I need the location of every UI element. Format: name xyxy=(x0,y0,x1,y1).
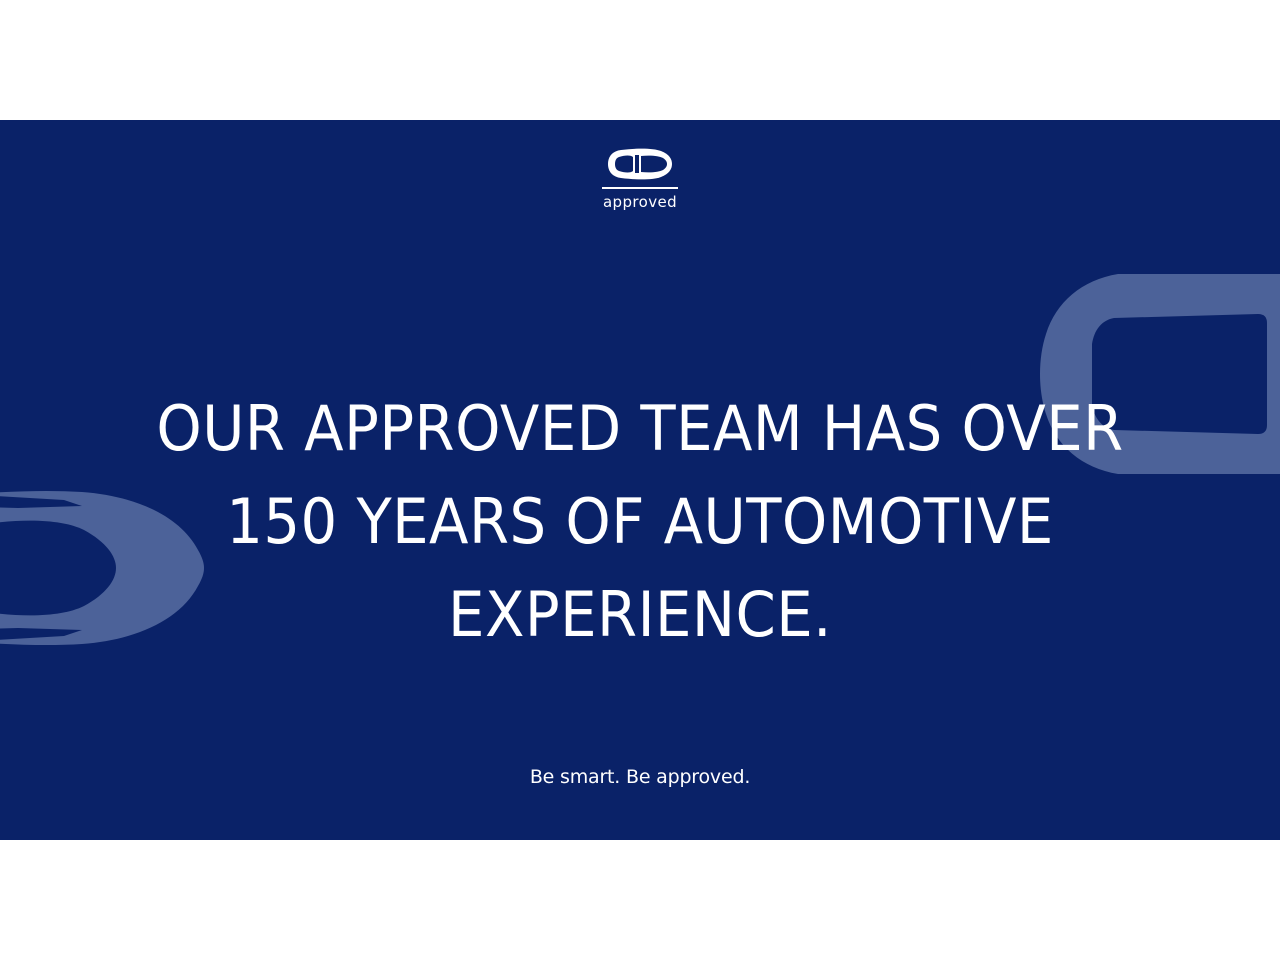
tagline: Be smart. Be approved. xyxy=(0,768,1280,787)
approved-car-icon xyxy=(607,148,673,180)
headline-line-3: EXPERIENCE. xyxy=(129,568,1152,661)
logo-wordmark: approved xyxy=(603,195,677,210)
brand-logo: approved xyxy=(0,148,1280,210)
hero-banner: approved OUR APPROVED TEAM HAS OVER 150 … xyxy=(0,120,1280,840)
headline: OUR APPROVED TEAM HAS OVER 150 YEARS OF … xyxy=(90,382,1190,661)
headline-line-1: OUR APPROVED TEAM HAS OVER xyxy=(129,382,1152,475)
logo-divider-rule xyxy=(602,187,678,189)
headline-line-2: 150 YEARS OF AUTOMOTIVE xyxy=(129,475,1152,568)
